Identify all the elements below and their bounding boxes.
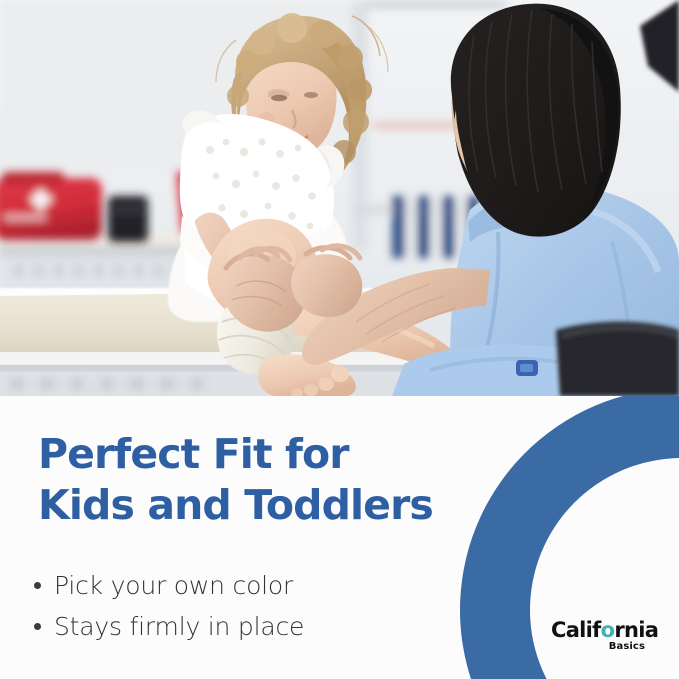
- logo-teal-o: o: [601, 618, 615, 642]
- bullet-dot-icon: [34, 623, 41, 630]
- bullet-dot-icon: [34, 582, 41, 589]
- logo-wordmark: California: [551, 619, 663, 641]
- headline-line-2: Kids and Toddlers: [38, 480, 538, 531]
- headline: Perfect Fit for Kids and Toddlers: [38, 429, 538, 531]
- bullet-label: Stays firmly in place: [54, 612, 304, 642]
- photo-illustration: [0, 0, 679, 396]
- logo-text-before-o: Calif: [551, 618, 601, 642]
- bullet-label: Pick your own color: [54, 571, 293, 601]
- product-marketing-image: Perfect Fit for Kids and Toddlers Pick y…: [0, 0, 679, 679]
- brand-logo: California Basics: [551, 619, 663, 653]
- headline-line-1: Perfect Fit for: [38, 429, 538, 480]
- lifestyle-photo: [0, 0, 679, 396]
- logo-subtitle: Basics: [551, 641, 645, 653]
- feature-bullet-list: Pick your own color Stays firmly in plac…: [34, 571, 514, 653]
- logo-text-after-o: rnia: [614, 618, 658, 642]
- list-item: Stays firmly in place: [34, 612, 514, 642]
- list-item: Pick your own color: [34, 571, 514, 601]
